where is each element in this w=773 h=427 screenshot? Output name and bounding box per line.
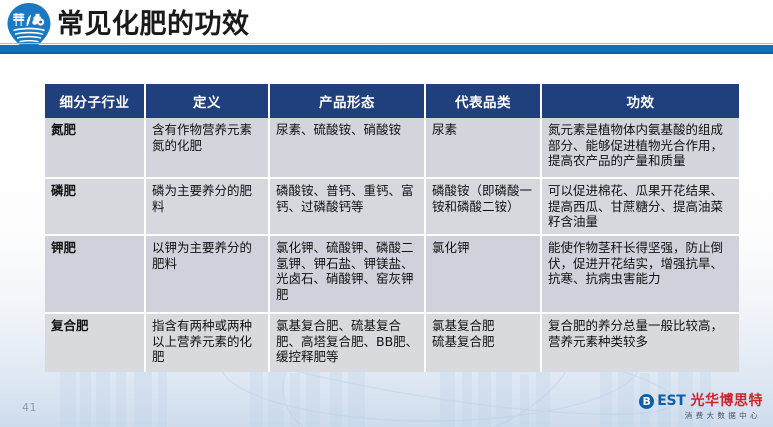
cell-effect: 可以促进棉花、瓜果开花结果、提高西瓜、甘蔗糖分、提高油菜籽含油量 [541, 178, 739, 235]
table-row: 氮肥 含有作物营养元素氮的化肥 尿素、硫酸铵、硝酸铵 尿素 氮元素是植物体内氨基… [45, 118, 739, 178]
cell-representative: 磷酸铵（即磷酸一铵和磷酸二铵） [425, 178, 541, 235]
page-number: 41 [22, 401, 37, 414]
logo-subtitle: 消费大数据中心 [639, 412, 763, 420]
header-hairline [0, 43, 773, 44]
column-header-category: 细分子行业 [45, 84, 145, 118]
logo-b-mark-icon: B [639, 394, 654, 409]
cell-product-forms: 磷酸铵、普钙、重钙、富钙、过磷酸钙等 [269, 178, 425, 235]
logo-text-cn: 光华博思特 [691, 394, 764, 408]
cell-effect: 氮元素是植物体内氨基酸的组成部分、能够促进植物光合作用，提高农产品的产量和质量 [541, 118, 739, 178]
cell-representative: 氯基复合肥 硫基复合肥 [425, 313, 541, 372]
logo-text-en: EST [657, 394, 685, 408]
column-header-representative: 代表品类 [425, 84, 541, 118]
cell-definition: 指含有两种或两种以上营养元素的化肥 [145, 313, 269, 372]
column-header-definition: 定义 [145, 84, 269, 118]
cell-category: 钾肥 [45, 235, 145, 313]
cell-representative: 尿素 [425, 118, 541, 178]
cell-category: 氮肥 [45, 118, 145, 178]
cell-effect: 复合肥的养分总量一般比较高，营养元素种类较多 [541, 313, 739, 372]
slide: 常见化肥的功效 细分子行业 定义 产品形态 代表品类 功效 [0, 0, 773, 427]
table-row: 钾肥 以钾为主要养分的肥料 氯化钾、硫酸钾、磷酸二氢钾、钾石盐、钾镁盐、光卤石、… [45, 235, 739, 313]
column-header-effect: 功效 [541, 84, 739, 118]
cell-product-forms: 氯化钾、硫酸钾、磷酸二氢钾、钾石盐、钾镁盐、光卤石、硝酸钾、窑灰钾肥 [269, 235, 425, 313]
fertilizer-table-wrapper: 细分子行业 定义 产品形态 代表品类 功效 氮肥 含有作物营养元素氮的化肥 尿素… [45, 84, 739, 372]
company-logo: B EST 光华博思特 消费大数据中心 [639, 394, 763, 420]
cell-definition: 磷为主要养分的肥料 [145, 178, 269, 235]
cell-product-forms: 氯基复合肥、硫基复合肥、高塔复合肥、BB肥、缓控释肥等 [269, 313, 425, 372]
column-header-product-forms: 产品形态 [269, 84, 425, 118]
cell-definition: 以钾为主要养分的肥料 [145, 235, 269, 313]
table-row: 复合肥 指含有两种或两种以上营养元素的化肥 氯基复合肥、硫基复合肥、高塔复合肥、… [45, 313, 739, 372]
slide-header: 常见化肥的功效 [0, 0, 773, 52]
table-row: 磷肥 磷为主要养分的肥料 磷酸铵、普钙、重钙、富钙、过磷酸钙等 磷酸铵（即磷酸一… [45, 178, 739, 235]
page-title: 常见化肥的功效 [57, 8, 250, 42]
cell-representative: 氯化钾 [425, 235, 541, 313]
cell-definition: 含有作物营养元素氮的化肥 [145, 118, 269, 178]
cell-product-forms: 尿素、硫酸铵、硝酸铵 [269, 118, 425, 178]
header-accent-bar [0, 45, 773, 54]
cell-effect: 能使作物茎秆长得坚强，防止倒伏，促进开花结实，增强抗旱、抗寒、抗病虫害能力 [541, 235, 739, 313]
logo-wordmark: B EST 光华博思特 [639, 394, 763, 409]
cell-category: 复合肥 [45, 313, 145, 372]
fertilizer-table: 细分子行业 定义 产品形态 代表品类 功效 氮肥 含有作物营养元素氮的化肥 尿素… [45, 84, 739, 372]
cell-category: 磷肥 [45, 178, 145, 235]
table-header-row: 细分子行业 定义 产品形态 代表品类 功效 [45, 84, 739, 118]
